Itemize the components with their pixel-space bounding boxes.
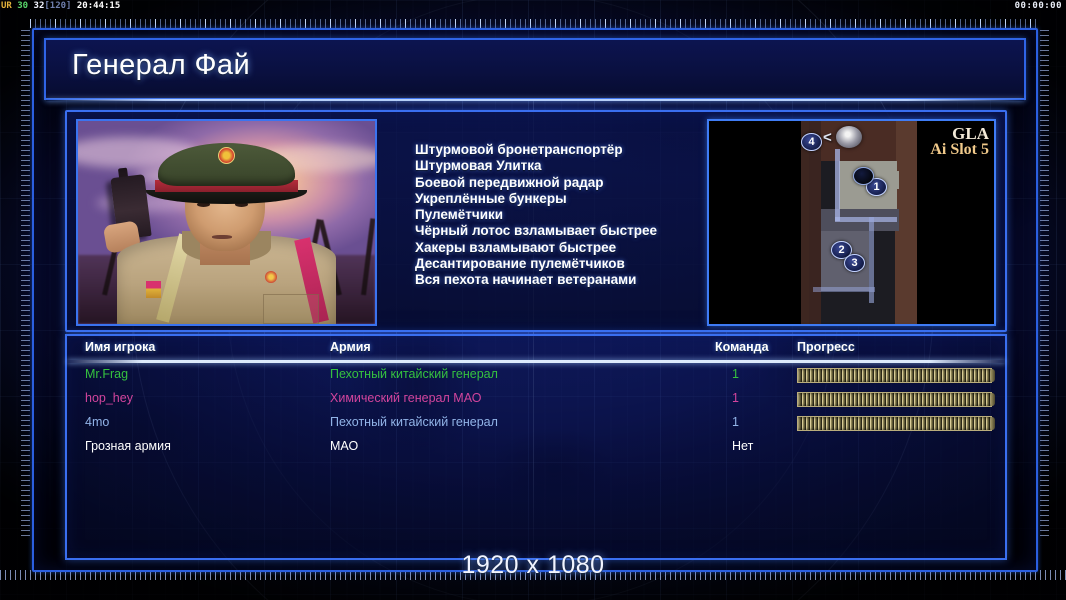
general-abilities-list: Штурмовой бронетранспортёрШтурмовая Улит… — [415, 142, 715, 289]
map-road — [835, 149, 840, 221]
resolution-label: 1920 x 1080 — [0, 551, 1066, 580]
map-start-position-marker[interactable]: 3 — [844, 254, 865, 272]
ruler-right — [1040, 30, 1049, 540]
map-faction-label: GLA — [930, 125, 989, 142]
progress-bar-cap — [991, 393, 995, 406]
player-team: 1 — [732, 391, 739, 405]
player-team: 1 — [732, 367, 739, 381]
ability-item: Штурмовая Улитка — [415, 158, 715, 174]
column-header-progress: Прогресс — [797, 340, 855, 354]
map-start-position-marker-empty[interactable] — [853, 167, 874, 185]
table-row[interactable]: Mr.FragПехотный китайский генерал1 — [67, 364, 1005, 388]
table-row[interactable]: 4moПехотный китайский генерал1 — [67, 412, 1005, 436]
player-progress-bar — [797, 368, 992, 383]
ability-item: Чёрный лотос взламывает быстрее — [415, 223, 715, 239]
title-panel: Генерал Фай — [44, 38, 1026, 100]
ability-item: Штурмовой бронетранспортёр — [415, 142, 715, 158]
table-header-divider — [67, 360, 1005, 363]
map-start-position-marker[interactable]: 4 — [801, 133, 822, 151]
map-arrow-icon: < — [823, 129, 832, 146]
page-title: Генерал Фай — [72, 49, 250, 82]
player-team: 1 — [732, 415, 739, 429]
player-name: Mr.Frag — [85, 367, 128, 381]
map-zone-base — [885, 171, 899, 189]
ability-item: Десантирование пулемётчиков — [415, 256, 715, 272]
map-radar-icon — [836, 126, 862, 148]
status-bracket-value: [120] — [44, 1, 71, 11]
player-team: Нет — [732, 439, 753, 453]
player-army: Пехотный китайский генерал — [330, 367, 498, 381]
general-info-panel: Штурмовой бронетранспортёрШтурмовая Улит… — [65, 110, 1007, 332]
player-name: hop_hey — [85, 391, 133, 405]
status-timer: 00:00:00 — [1015, 0, 1062, 12]
ability-item: Пулемётчики — [415, 207, 715, 223]
progress-bar-cap — [991, 417, 995, 430]
table-row[interactable]: hop_heyХимический генерал МАО1 — [67, 388, 1005, 412]
ability-item: Хакеры взламывают быстрее — [415, 240, 715, 256]
ability-item: Укреплённые бункеры — [415, 191, 715, 207]
player-army: МАО — [330, 439, 358, 453]
top-status-bar: UR 30 32[120] 20:44:15 00:00:00 — [0, 0, 1066, 12]
player-progress-bar — [797, 416, 992, 431]
title-underline — [46, 99, 1024, 101]
column-header-team: Команда — [715, 340, 769, 354]
ability-item: Вся пехота начинает ветеранами — [415, 272, 715, 288]
status-tag: UR — [1, 1, 12, 11]
ability-item: Боевой передвижной радар — [415, 175, 715, 191]
player-name: 4mo — [85, 415, 109, 429]
map-ai-slot-label: Ai Slot 5 — [930, 142, 989, 158]
portrait-hat-badge-icon — [218, 147, 235, 164]
ruler-left — [21, 30, 30, 540]
general-portrait — [76, 119, 377, 326]
table-header-row: Имя игрока Армия Команда Прогресс — [67, 340, 1005, 360]
status-ping: 32 — [34, 1, 45, 11]
portrait-pocket — [263, 294, 318, 324]
player-army: Химический генерал МАО — [330, 391, 481, 405]
column-header-army: Армия — [330, 340, 371, 354]
players-table-panel: Имя игрока Армия Команда Прогресс Mr.Fra… — [65, 334, 1007, 560]
player-army: Пехотный китайский генерал — [330, 415, 498, 429]
map-preview: < GLA Ai Slot 5 4123 — [707, 119, 996, 326]
table-row[interactable]: Грозная армияМАОНет — [67, 436, 1005, 460]
map-region — [801, 121, 809, 324]
player-progress-bar — [797, 392, 992, 407]
player-name: Грозная армия — [85, 439, 171, 453]
portrait-medal — [146, 281, 161, 298]
game-lobby-screen: UR 30 32[120] 20:44:15 00:00:00 Генерал … — [0, 0, 1066, 600]
status-fps: 30 — [17, 1, 28, 11]
map-region — [709, 121, 801, 324]
ruler-top — [30, 19, 1036, 28]
table-body: Mr.FragПехотный китайский генерал1hop_he… — [67, 364, 1005, 460]
map-road — [835, 217, 897, 222]
status-left-group: UR 30 32[120] 20:44:15 — [1, 0, 120, 12]
progress-bar-cap — [991, 369, 995, 382]
column-header-name: Имя игрока — [85, 340, 155, 354]
portrait-mouth — [212, 235, 232, 239]
map-road — [813, 287, 875, 292]
status-clock: 20:44:15 — [77, 1, 120, 11]
map-slot-label: GLA Ai Slot 5 — [930, 125, 989, 159]
